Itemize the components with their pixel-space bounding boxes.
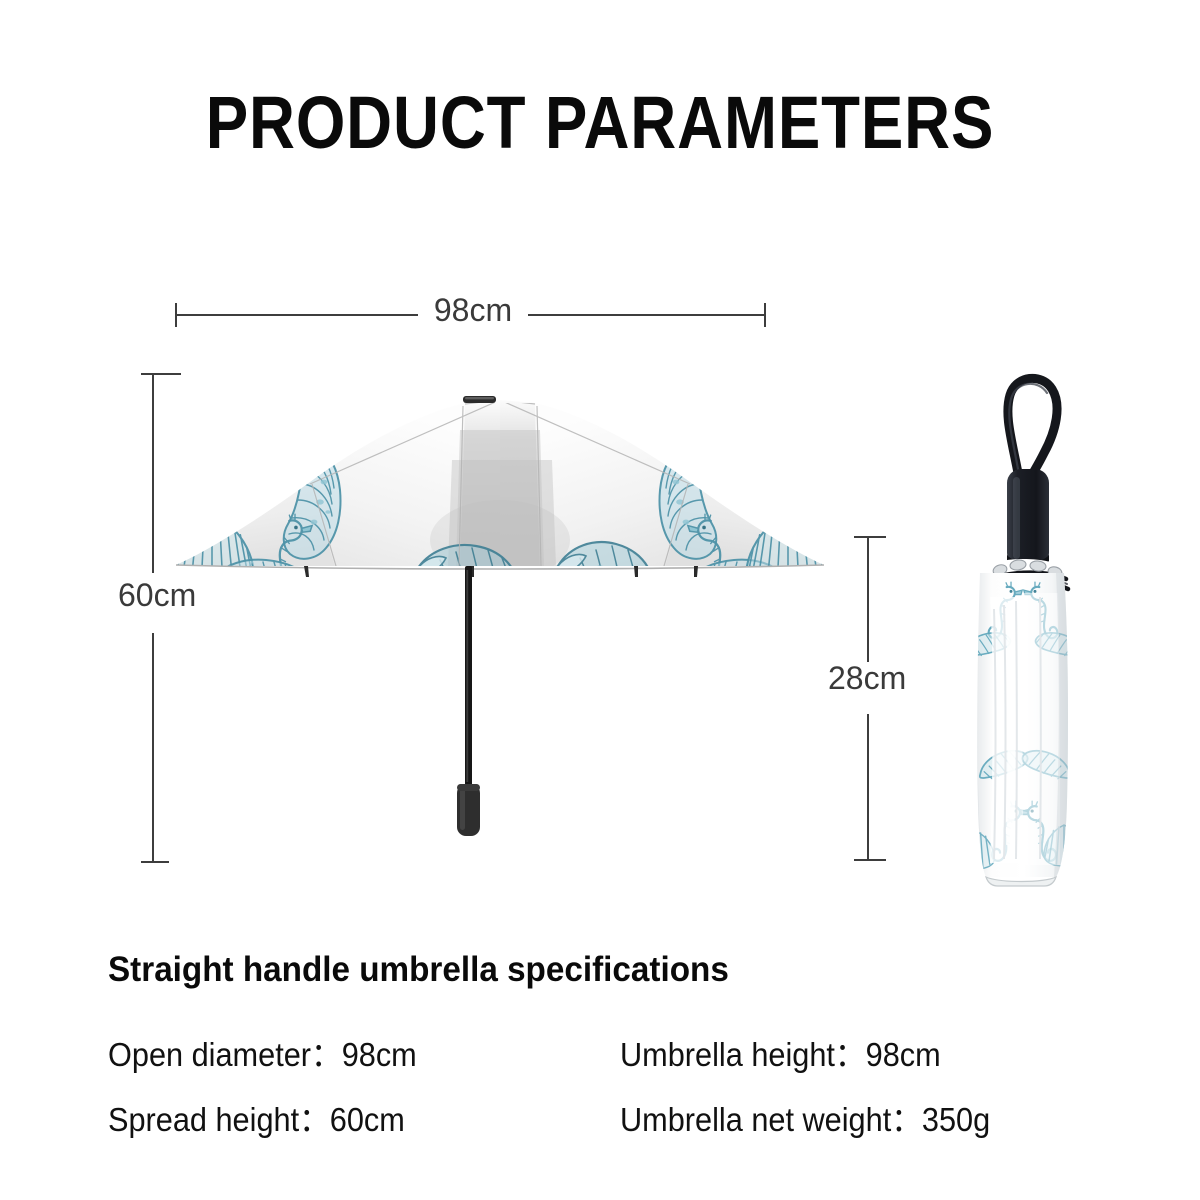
umbrella-handle xyxy=(457,784,480,836)
umbrella-shaft xyxy=(465,566,472,788)
folded-umbrella-image xyxy=(960,365,1100,895)
dimension-cap-bottom xyxy=(141,861,169,863)
dimension-line-left-segment xyxy=(175,314,418,316)
specifications-heading: Straight handle umbrella specifications xyxy=(108,950,729,990)
product-parameters-page: PRODUCT PARAMETERS xyxy=(0,0,1200,1200)
folded-canopy-print xyxy=(958,573,1087,877)
dimension-cap-bottom xyxy=(854,859,886,861)
dimension-line-upper-segment xyxy=(152,373,154,573)
dimension-cap-top xyxy=(141,373,181,375)
spec-spread-height: Spread height：60cm xyxy=(108,1093,405,1141)
dimension-line-right-segment xyxy=(528,314,766,316)
dimension-line-lower-segment xyxy=(152,633,154,863)
dimension-cap-right xyxy=(764,303,766,327)
dimension-line-lower-segment xyxy=(867,714,869,860)
dimension-label-60cm: 60cm xyxy=(118,579,196,611)
folded-canopy-creases xyxy=(990,593,1060,865)
wrist-strap xyxy=(1008,378,1057,475)
spec-umbrella-net-weight: Umbrella net weight：350g xyxy=(620,1093,990,1141)
spec-umbrella-height: Umbrella height：98cm xyxy=(620,1028,941,1076)
dimension-label-98cm: 98cm xyxy=(418,294,528,326)
open-umbrella-image xyxy=(160,390,840,850)
dimension-line-upper-segment xyxy=(867,536,869,662)
umbrella-tip-cap xyxy=(463,396,496,403)
spec-open-diameter: Open diameter：98cm xyxy=(108,1028,417,1076)
folded-canopy-bottom xyxy=(986,877,1056,886)
dimension-cap-top xyxy=(854,536,886,538)
page-title: PRODUCT PARAMETERS xyxy=(84,86,1116,160)
dimension-label-28cm: 28cm xyxy=(828,662,906,694)
folded-umbrella-handle xyxy=(1007,469,1049,568)
